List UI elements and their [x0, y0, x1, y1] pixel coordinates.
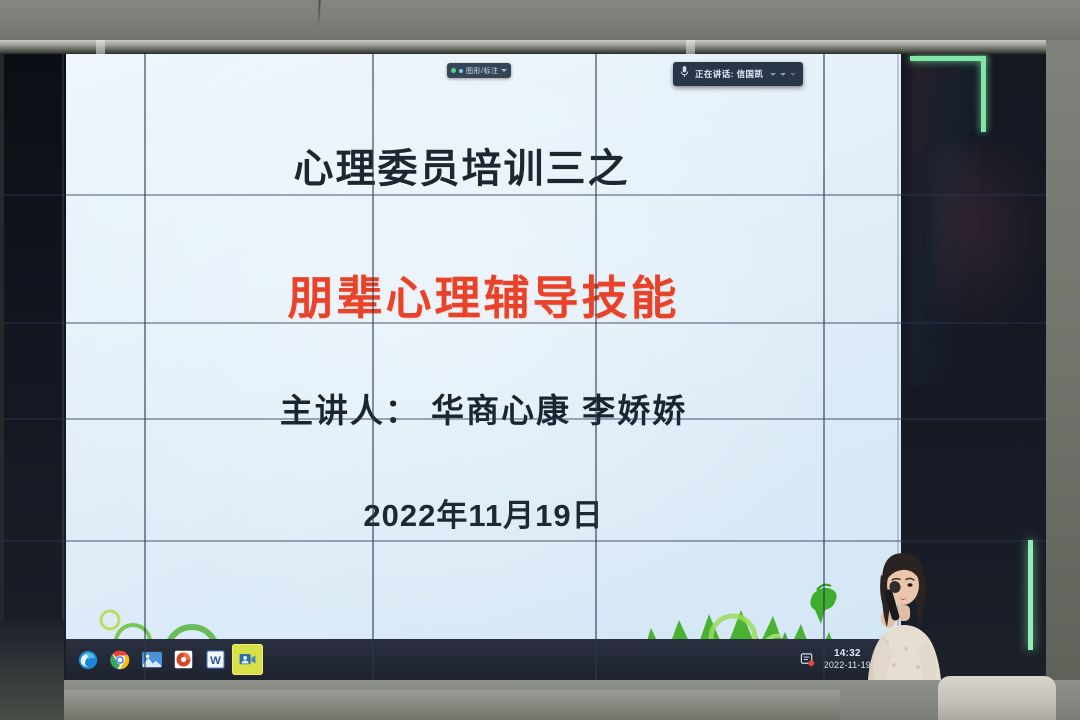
video-wall-bezel-horizontal	[4, 194, 1046, 196]
video-wall-bezel-horizontal	[4, 418, 1046, 420]
edge-icon	[77, 649, 99, 671]
video-wall-bezel-vertical	[62, 54, 64, 680]
video-wall-bezel-vertical	[823, 54, 825, 680]
right-wall	[1046, 40, 1080, 700]
rail-seam	[686, 40, 695, 54]
caret-down-icon[interactable]	[770, 73, 776, 76]
video-wall-bezel-horizontal	[4, 322, 1046, 324]
video-wall-bezel-vertical	[372, 54, 374, 680]
caret-down-icon[interactable]	[780, 73, 786, 76]
slide-title-line-2: 朋辈心理辅导技能	[66, 262, 901, 328]
screenshot-root: 心理委员培训三之 朋辈心理辅导技能 主讲人： 华商心康 李娇娇 2022年11月…	[0, 0, 1080, 720]
meeting-icon	[238, 650, 257, 669]
video-wall-glare-2	[934, 144, 1046, 344]
video-wall-bezel-vertical	[595, 54, 597, 680]
microphone-icon	[680, 65, 689, 83]
taskbar-item-chrome[interactable]	[104, 644, 135, 675]
word-icon: W	[205, 649, 226, 670]
windows-taskbar: W	[66, 639, 901, 680]
wall-mount-rail	[0, 40, 1080, 54]
active-speaker-label: 正在讲话: 信国凯	[695, 68, 763, 80]
taskbar-item-photos[interactable]	[136, 644, 167, 675]
led-accent-strip-lower	[1028, 540, 1033, 650]
notification-badge-icon[interactable]	[800, 652, 815, 667]
video-wall-bezel-horizontal	[4, 540, 1046, 542]
presentation-slide: 心理委员培训三之 朋辈心理辅导技能 主讲人： 华商心康 李娇娇 2022年11月…	[66, 54, 901, 680]
svg-text:W: W	[210, 655, 221, 667]
led-accent-strip-right	[981, 56, 986, 132]
slide-date-line: 2022年11月19日	[66, 490, 901, 535]
chrome-icon	[109, 649, 131, 671]
taskbar-item-powerpoint[interactable]	[168, 644, 199, 675]
more-icon[interactable]	[790, 73, 796, 76]
chair-back	[938, 676, 1056, 720]
video-wall-bezel-vertical	[144, 54, 146, 680]
ceiling-crack	[317, 0, 320, 28]
led-accent-strip-top	[910, 56, 986, 61]
active-speaker-bar[interactable]: 正在讲话: 信国凯	[673, 62, 803, 86]
powerpoint-icon	[173, 649, 194, 670]
slide-title-line-1: 心理委员培训三之	[66, 136, 901, 194]
taskbar-item-meeting[interactable]	[232, 644, 263, 675]
record-dot-icon	[451, 68, 456, 73]
annotation-toolbar[interactable]: 图形/标注	[447, 63, 511, 78]
annotation-toolbar-label: 图形/标注	[466, 66, 498, 76]
taskbar-item-word[interactable]: W	[200, 644, 231, 675]
foreground-shadow-left	[0, 620, 64, 720]
rail-seam	[96, 40, 105, 54]
video-wall-dark-panel-left	[4, 54, 66, 680]
status-dot-icon	[459, 69, 463, 73]
slide-presenter-line: 主讲人： 华商心康 李娇娇	[66, 384, 901, 432]
desk-edge	[0, 690, 840, 720]
taskbar-item-edge[interactable]	[72, 644, 103, 675]
chevron-down-icon[interactable]	[501, 69, 507, 72]
speaker-bar-actions[interactable]	[770, 73, 796, 76]
